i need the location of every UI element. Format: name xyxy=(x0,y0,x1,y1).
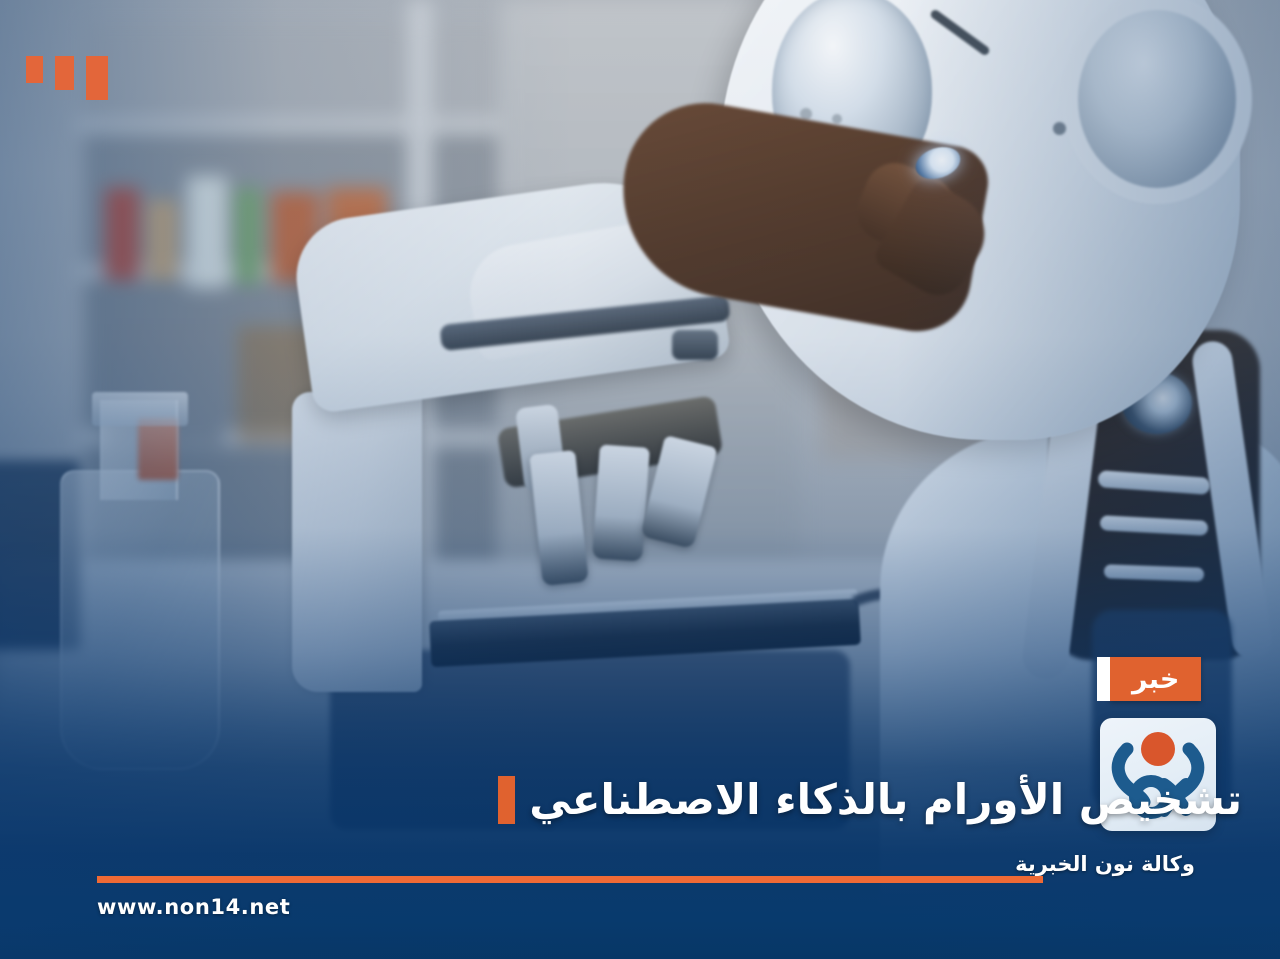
corner-bar-2 xyxy=(55,56,74,90)
news-card: خبر وكالة نون الخبرية تشخيص الأورام بالذ… xyxy=(0,0,1280,959)
news-badge-tick xyxy=(1097,657,1110,701)
headline-accent-bar xyxy=(498,776,515,824)
footer-divider xyxy=(97,876,1043,883)
news-badge: خبر xyxy=(1097,657,1201,701)
page-title: تشخيص الأورام بالذكاء الاصطناعي xyxy=(529,776,1242,823)
news-badge-box: خبر xyxy=(1110,657,1201,701)
headline-row: تشخيص الأورام بالذكاء الاصطناعي xyxy=(498,776,1242,824)
agency-name: وكالة نون الخبرية xyxy=(980,852,1230,876)
news-badge-label: خبر xyxy=(1132,666,1179,693)
corner-bar-1 xyxy=(86,56,108,100)
website-url: www.non14.net xyxy=(97,895,290,919)
corner-bars-mark xyxy=(26,56,108,100)
corner-bar-3 xyxy=(26,56,43,83)
